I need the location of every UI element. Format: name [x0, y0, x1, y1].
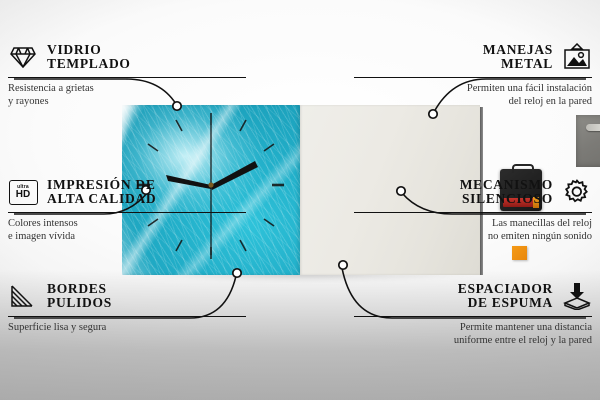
feature-desc-line2: del reloj en la pared: [509, 96, 592, 107]
feature-header: ultra HD IMPRESIÓN DE ALTA CALIDAD: [8, 177, 246, 207]
feature-desc-line2: y rayones: [8, 96, 49, 107]
feature-title-line1: MANEJAS: [483, 42, 553, 57]
feature-desc-line2: e imagen vívida: [8, 231, 75, 242]
feature-title: VIDRIO TEMPLADO: [47, 43, 131, 71]
feature-title: ESPACIADOR DE ESPUMA: [458, 282, 553, 310]
feature-header: MANEJAS METAL: [354, 42, 592, 72]
gear-icon: [562, 177, 592, 207]
feature-divider: [8, 316, 246, 317]
feature-title: MECANISMO SILENCIOSO: [460, 178, 553, 206]
feature-desc-line2: uniforme entre el reloj y la pared: [454, 335, 592, 346]
infographic-canvas: VIDRIO TEMPLADO Resistencia a grietas y …: [0, 0, 600, 400]
feature-divider: [8, 212, 246, 213]
feature-vidrio-templado: VIDRIO TEMPLADO Resistencia a grietas y …: [8, 42, 246, 108]
movement-hook: [512, 164, 534, 173]
feature-title-line1: IMPRESIÓN DE: [47, 177, 156, 192]
hanger-slot: [586, 124, 600, 131]
feature-header: BORDES PULIDOS: [8, 281, 246, 311]
feature-desc-line1: Permiten una fácil instalación: [467, 83, 592, 94]
metal-hanger-plate: [576, 115, 600, 167]
feature-desc-line1: Las manecillas del reloj: [492, 218, 592, 229]
feature-title-line1: ESPACIADOR: [458, 281, 553, 296]
feature-title-line2: SILENCIOSO: [462, 191, 553, 206]
feature-divider: [354, 212, 592, 213]
feature-title-line2: DE ESPUMA: [468, 295, 553, 310]
feature-desc-line1: Superficie lisa y segura: [8, 322, 106, 333]
feature-description: Permiten una fácil instalación del reloj…: [354, 83, 592, 108]
feature-description: Las manecillas del reloj no emiten ningú…: [354, 218, 592, 243]
feature-divider: [8, 77, 246, 78]
feature-description: Permite mantener una distancia uniforme …: [354, 322, 592, 347]
feature-desc-line1: Colores intensos: [8, 218, 78, 229]
feature-desc-line1: Permite mantener una distancia: [460, 322, 592, 333]
feature-divider: [354, 316, 592, 317]
hanging-frame-icon: [562, 42, 592, 72]
ultra-hd-icon: ultra HD: [8, 177, 38, 207]
feature-title-line1: BORDES: [47, 281, 107, 296]
feature-title-line1: VIDRIO: [47, 42, 101, 57]
diamond-icon: [8, 42, 38, 72]
feature-title: MANEJAS METAL: [483, 43, 553, 71]
feature-mecanismo-silencioso: MECANISMO SILENCIOSO Las manecillas del …: [354, 177, 592, 243]
feature-header: VIDRIO TEMPLADO: [8, 42, 246, 72]
feature-manejas-metal: MANEJAS METAL Permiten una fácil instala…: [354, 42, 592, 108]
feature-espaciador-de-espuma: ESPACIADOR DE ESPUMA Permite mantener un…: [354, 281, 592, 347]
ultra-hd-badge: ultra HD: [9, 180, 38, 205]
foam-spacer-pad: [512, 246, 527, 260]
feature-description: Colores intensos e imagen vívida: [8, 218, 246, 243]
press-down-foam-icon: [562, 281, 592, 311]
feature-title-line2: TEMPLADO: [47, 56, 131, 71]
feature-desc-line2: no emiten ningún sonido: [488, 231, 592, 242]
feature-desc-line1: Resistencia a grietas: [8, 83, 94, 94]
feature-bordes-pulidos: BORDES PULIDOS Superficie lisa y segura: [8, 281, 246, 335]
feature-divider: [354, 77, 592, 78]
feature-title: BORDES PULIDOS: [47, 282, 112, 310]
feature-title-line1: MECANISMO: [460, 177, 553, 192]
feature-title-line2: ALTA CALIDAD: [47, 191, 156, 206]
ultra-hd-bottom-text: HD: [16, 190, 30, 200]
polished-edge-icon: [8, 281, 38, 311]
feature-header: MECANISMO SILENCIOSO: [354, 177, 592, 207]
feature-title-line2: METAL: [501, 56, 553, 71]
feature-title-line2: PULIDOS: [47, 295, 112, 310]
feature-description: Resistencia a grietas y rayones: [8, 83, 246, 108]
feature-description: Superficie lisa y segura: [8, 322, 246, 335]
feature-header: ESPACIADOR DE ESPUMA: [354, 281, 592, 311]
feature-impresion-alta-calidad: ultra HD IMPRESIÓN DE ALTA CALIDAD Color…: [8, 177, 246, 243]
feature-title: IMPRESIÓN DE ALTA CALIDAD: [47, 178, 156, 206]
